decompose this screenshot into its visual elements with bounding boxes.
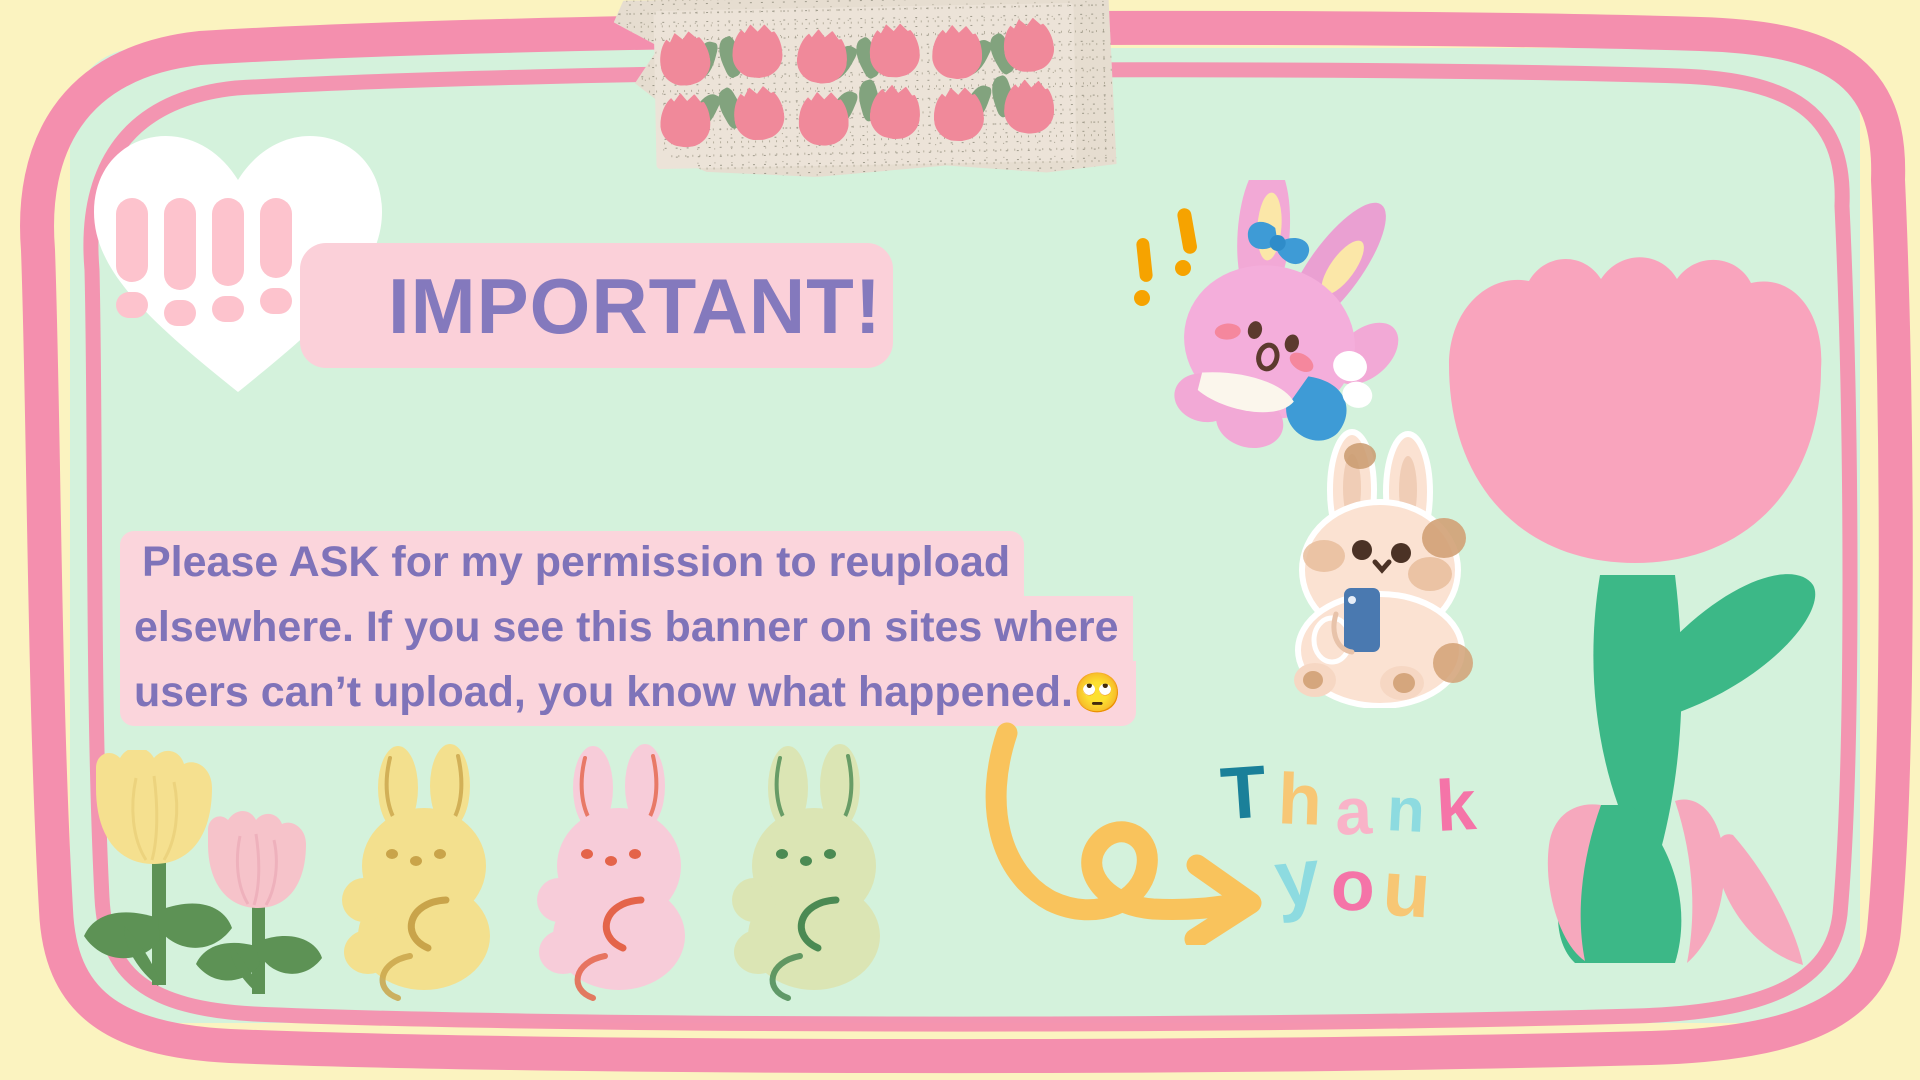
thank-you-letter: a — [1334, 777, 1373, 844]
important-heading-bar: IMPORTANT! — [300, 243, 893, 368]
washi-tulip — [999, 8, 1061, 77]
washi-tulip — [867, 77, 927, 144]
body-line-1: Please ASK for my permission to reupload — [120, 531, 1024, 596]
thank-you-letter: u — [1380, 848, 1433, 929]
washi-tulip — [729, 77, 791, 146]
washi-tulip — [931, 18, 987, 82]
exclamation-2 — [164, 198, 196, 326]
thank-you-lettering: Thankyou — [1215, 750, 1495, 935]
washi-tulip — [795, 22, 854, 88]
pink-tulip — [196, 811, 322, 994]
pink-bunny-cookie — [537, 744, 685, 998]
tulip-washi-tape — [613, 0, 1116, 181]
exclamation-1 — [116, 198, 148, 326]
rolling-eyes-emoji: 🙄 — [1073, 672, 1122, 715]
bunny-cookie-row — [330, 740, 920, 1010]
thank-you-letter: o — [1330, 849, 1376, 922]
page-title: IMPORTANT! — [388, 267, 882, 345]
thank-you-letter: T — [1218, 755, 1268, 832]
washi-tulip — [655, 22, 718, 92]
exclamation-4 — [260, 198, 292, 326]
yellow-bunny-cookie — [342, 744, 490, 998]
thank-you-letter: h — [1277, 763, 1323, 836]
washi-tulip — [1003, 72, 1060, 137]
washi-tulip — [867, 15, 926, 82]
body-line-3-text: users can’t upload, you know what happen… — [134, 668, 1073, 716]
washi-tulip — [660, 87, 716, 151]
banner-canvas: IMPORTANT! Please ASK for my permission … — [0, 0, 1920, 1080]
thank-you-letter: n — [1385, 779, 1426, 843]
body-line-3: users can’t upload, you know what happen… — [120, 661, 1136, 726]
washi-tulip — [931, 79, 989, 145]
exclamation-marks — [116, 198, 292, 326]
washi-tulip — [798, 85, 853, 148]
thank-you-letter: y — [1271, 836, 1324, 920]
body-text-block: Please ASK for my permission to reupload… — [120, 531, 1150, 726]
thank-you-letter: k — [1434, 769, 1478, 843]
washi-tulip — [731, 17, 787, 81]
exclamation-3 — [212, 198, 244, 326]
body-line-2: elsewhere. If you see this banner on sit… — [120, 596, 1133, 661]
green-bunny-cookie — [732, 744, 880, 998]
